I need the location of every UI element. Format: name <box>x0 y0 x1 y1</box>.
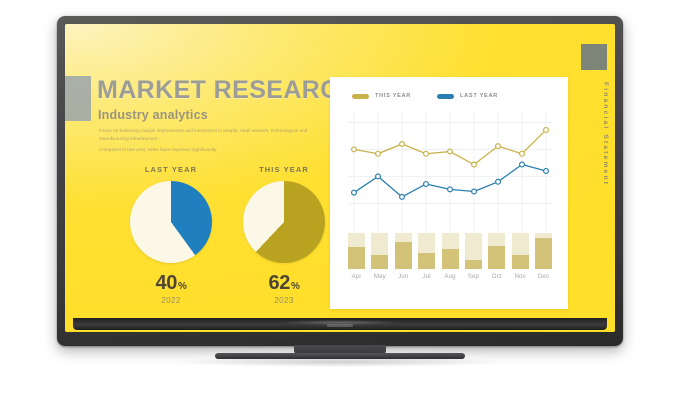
pie-graphic-this-year <box>243 181 325 263</box>
pie-slice-last-year <box>130 181 212 263</box>
bar-dec <box>535 233 552 269</box>
pie-chart-this-year: THIS YEAR 62% 2023 <box>230 165 338 305</box>
month-label-oct: Oct <box>488 273 505 280</box>
bar-fill-jun <box>395 242 412 269</box>
month-label-apr: Apr <box>348 273 365 280</box>
month-label-aug: Aug <box>442 273 459 280</box>
pie-caption-last-year: LAST YEAR <box>117 165 225 174</box>
tv-screen: MARKET RESEARCH Industry analytics Focus… <box>65 24 615 332</box>
pie-percent-value-last-year: 40 <box>156 272 177 294</box>
percent-symbol-last-year: % <box>178 281 187 292</box>
bar-fill-sep <box>465 260 482 269</box>
tv-bottom-bezel <box>73 318 607 330</box>
legend-swatch-icon-last-year <box>437 94 454 99</box>
month-label-jun: Jun <box>395 273 412 280</box>
bar-fill-aug <box>442 249 459 269</box>
tv-display-device: MARKET RESEARCH Industry analytics Focus… <box>57 16 623 346</box>
pie-percent-this-year: 62% <box>230 272 338 295</box>
month-label-jul: Jul <box>418 273 435 280</box>
pie-year-last-year: 2022 <box>117 296 225 305</box>
bar-fill-oct <box>488 246 505 269</box>
tv-drop-shadow <box>175 357 505 367</box>
bar-aug <box>442 233 459 269</box>
pie-caption-this-year: THIS YEAR <box>230 165 338 174</box>
legend-label-this-year: THIS YEAR <box>375 93 411 99</box>
chart-card: THIS YEAR LAST YEAR AprMayJunJulAugSepOc… <box>330 77 568 309</box>
bar-fill-dec <box>535 238 552 269</box>
bar-fill-may <box>371 255 388 269</box>
bar-nov <box>512 233 529 269</box>
body-paragraph-2: Compared to last year, sales have improv… <box>99 146 311 154</box>
percent-symbol-this-year: % <box>291 281 300 292</box>
bar-fill-apr <box>348 247 365 269</box>
pie-graphic-last-year <box>130 181 212 263</box>
bar-row <box>348 233 552 269</box>
side-rail-label: Financial Statement <box>602 82 609 186</box>
bar-jun <box>395 233 412 269</box>
x-axis-month-labels: AprMayJunJulAugSepOctNovDec <box>348 273 552 280</box>
bar-may <box>371 233 388 269</box>
chart-legend: THIS YEAR LAST YEAR <box>352 93 498 99</box>
bar-apr <box>348 233 365 269</box>
bar-sep <box>465 233 482 269</box>
bar-fill-nov <box>512 255 529 269</box>
title-accent-bar <box>65 76 91 121</box>
pie-year-this-year: 2023 <box>230 296 338 305</box>
bar-jul <box>418 233 435 269</box>
tv-brand-mark <box>327 324 353 327</box>
month-label-sep: Sep <box>465 273 482 280</box>
legend-label-last-year: LAST YEAR <box>460 93 498 99</box>
page-title: MARKET RESEARCH <box>97 76 357 105</box>
pie-chart-last-year: LAST YEAR 40% 2022 <box>117 165 225 305</box>
pie-percent-value-this-year: 62 <box>269 272 290 294</box>
bar-oct <box>488 233 505 269</box>
bar-fill-jul <box>418 253 435 269</box>
body-paragraph-1: Focus on balancing margin improvement an… <box>99 127 311 142</box>
legend-item-last-year: LAST YEAR <box>437 93 498 99</box>
month-label-nov: Nov <box>512 273 529 280</box>
month-label-dec: Dec <box>535 273 552 280</box>
rail-accent-square <box>581 44 607 70</box>
pie-slice-this-year <box>243 181 325 263</box>
pie-percent-last-year: 40% <box>117 272 225 295</box>
month-label-may: May <box>371 273 388 280</box>
presentation-slide: MARKET RESEARCH Industry analytics Focus… <box>65 24 615 332</box>
line-plot-area <box>348 111 552 231</box>
page-subtitle: Industry analytics <box>98 108 208 122</box>
legend-swatch-icon-this-year <box>352 94 369 99</box>
legend-item-this-year: THIS YEAR <box>352 93 411 99</box>
